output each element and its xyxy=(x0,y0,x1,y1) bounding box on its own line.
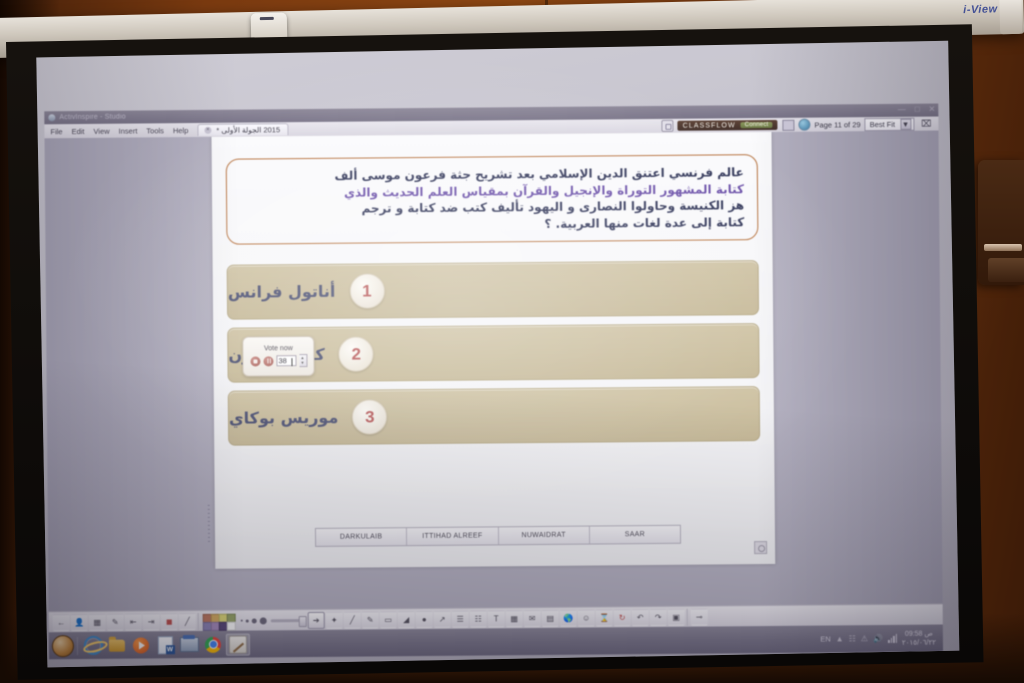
grid-icon[interactable]: ▦ xyxy=(506,610,523,627)
flipchart-tab[interactable]: 2015 الجولة الأولى * × xyxy=(197,123,288,136)
color-palette[interactable] xyxy=(200,613,237,628)
timer-icon[interactable]: ⌛ xyxy=(596,609,613,626)
chevron-down-icon[interactable]: ▼ xyxy=(900,118,911,129)
start-button[interactable] xyxy=(52,635,74,657)
globe-icon[interactable] xyxy=(798,119,810,131)
collapse-icon[interactable]: ⌧ xyxy=(918,118,934,129)
team-darkulaib[interactable]: DARKULAIB xyxy=(316,528,407,546)
pen-width-l[interactable] xyxy=(260,617,267,624)
answer-option-2[interactable]: 2 كلود سيمون Vote now 38 xyxy=(227,323,759,383)
zoom-value: Best Fit xyxy=(870,119,896,128)
volume-icon[interactable]: 🔊 xyxy=(873,634,883,643)
toolbar-group-extra[interactable]: ⊸ xyxy=(689,608,710,625)
vote-now-label: Vote now xyxy=(264,345,293,352)
window-title: ActivInspire - Studio xyxy=(59,114,126,122)
menu-view[interactable]: View xyxy=(93,126,109,135)
record-icon[interactable]: ◼ xyxy=(161,613,178,630)
menu-insert[interactable]: Insert xyxy=(119,126,138,135)
workspace-guide-dots xyxy=(208,505,210,545)
minimize-button[interactable]: — xyxy=(898,105,906,114)
menu-file[interactable]: File xyxy=(50,127,62,136)
filmstrip-icon[interactable]: ▤ xyxy=(542,609,559,626)
taskbar-clock[interactable]: 09:58 ص ٢٠١٥/٠٦/٢٢ xyxy=(902,629,936,647)
language-indicator[interactable]: EN xyxy=(820,634,831,643)
answer-text-1: أناتول فرانس xyxy=(228,282,336,302)
next-page-icon[interactable]: ⇥ xyxy=(143,613,160,630)
vote-controls[interactable]: 38 ▲ ▼ xyxy=(250,354,307,367)
pen-width-xs[interactable] xyxy=(241,620,243,622)
note-icon[interactable]: ✉ xyxy=(524,609,541,626)
spinner-down-icon[interactable]: ▼ xyxy=(300,361,304,365)
page-grid-icon[interactable] xyxy=(782,119,794,130)
spinner-stepper[interactable]: ▲ ▼ xyxy=(299,354,307,367)
magic-pen-icon[interactable]: ✦ xyxy=(326,611,343,628)
ac-lower-vent xyxy=(988,258,1024,282)
connector-icon[interactable]: ↗ xyxy=(434,610,451,627)
team-name-bar[interactable]: DARKULAIB ITTIHAD ALREEF NUWAIDRAT SAAR xyxy=(315,525,681,547)
classflow-logo-bar[interactable]: CLASSFLOW Connect xyxy=(678,120,778,131)
vote-now-widget[interactable]: Vote now 38 xyxy=(242,336,314,377)
eraser-small-icon[interactable]: ╱ xyxy=(179,613,196,630)
question-line-4: كتابة إلى عدة لغات منها العربية. ؟ xyxy=(240,214,744,235)
answer-options: 1 أناتول فرانس 2 كلود سيمون Vote now xyxy=(227,260,761,454)
toolbar-group-navigation[interactable]: ← 👤 ▦ ✎ ⇤ ⇥ ◼ ╱ xyxy=(51,612,199,630)
projector-screen-surface: ActivInspire - Studio — □ ✕ File Edit Vi… xyxy=(36,41,959,668)
stop-icon[interactable] xyxy=(250,356,260,366)
page-indicator: Page 11 of 29 xyxy=(814,120,860,129)
highlighter-icon[interactable]: ✎ xyxy=(362,611,379,628)
maximize-button[interactable]: □ xyxy=(915,105,920,114)
flipchart-tab-label: 2015 الجولة الأولى * xyxy=(216,125,280,135)
zoom-select[interactable]: Best Fit ▼ xyxy=(865,117,915,130)
ac-light-bar xyxy=(984,244,1022,251)
workspace-right-margin xyxy=(771,131,942,605)
pen-width-selector[interactable] xyxy=(238,617,270,624)
room-photo: i-View ActivInspire - Studio — □ ✕ xyxy=(0,0,1024,683)
pen-icon[interactable]: ╱ xyxy=(344,611,361,628)
globe-icon[interactable]: 🌎 xyxy=(560,609,577,626)
dashboard-icon[interactable] xyxy=(662,120,674,132)
undo-icon[interactable]: ↶ xyxy=(632,609,649,626)
shape-icon[interactable]: ● xyxy=(416,610,433,627)
toolbar-group-tools[interactable]: ➔ ✦ ╱ ✎ ▭ ◢ ● ↗ ☰ ☷ T ▦ ✉ ▤ 🌎 xyxy=(306,608,688,628)
projector-screen-frame: ActivInspire - Studio — □ ✕ File Edit Vi… xyxy=(6,24,984,680)
classflow-area[interactable]: CLASSFLOW Connect xyxy=(662,119,783,132)
redo-icon[interactable]: ↷ xyxy=(650,608,667,625)
menu-items[interactable]: File Edit View Insert Tools Help xyxy=(44,126,188,136)
screen-brand-label: i-View xyxy=(963,3,998,16)
flipchart-page[interactable]: عالم فرنسي اعتنق الدين الإسلامي بعد تشري… xyxy=(212,132,776,569)
app-logo-icon xyxy=(48,114,55,121)
air-conditioner-unit xyxy=(978,160,1024,285)
fill-bucket-icon[interactable]: ◢ xyxy=(398,611,415,628)
clock-time: 09:58 ص xyxy=(905,629,933,638)
swatch-8[interactable] xyxy=(227,621,236,630)
user-icon[interactable]: 👤 xyxy=(71,613,88,630)
menu-tools[interactable]: Tools xyxy=(146,126,164,135)
pen-width-slider[interactable] xyxy=(271,619,305,622)
ink-note-icon[interactable]: ☰ xyxy=(452,610,469,627)
vote-countdown-input[interactable]: 38 xyxy=(276,355,296,366)
taskbar-google-chrome[interactable] xyxy=(202,634,224,654)
network-icon[interactable]: ☷ xyxy=(849,634,856,643)
team-nuwaidrat[interactable]: NUWAIDRAT xyxy=(498,527,589,545)
prev-page-icon[interactable]: ⇤ xyxy=(125,613,142,630)
workspace-left-margin xyxy=(45,137,216,611)
pause-icon[interactable] xyxy=(263,356,273,366)
menu-spacer xyxy=(288,126,662,129)
undo-arrow-icon[interactable]: ← xyxy=(53,614,70,631)
page-edit-icon[interactable]: ✎ xyxy=(107,613,124,630)
taskbar-internet-explorer[interactable] xyxy=(82,635,104,655)
taskbar-divider xyxy=(77,637,78,655)
answer-text-3: موريس بوكاي xyxy=(229,408,339,428)
classflow-connect-button[interactable]: Connect xyxy=(741,122,773,128)
taskbar-microsoft-word[interactable] xyxy=(154,635,176,655)
screen-case-cap xyxy=(999,0,1022,34)
menu-edit[interactable]: Edit xyxy=(72,126,85,135)
page-reset-icon[interactable]: ▣ xyxy=(668,608,685,625)
activinspire-window: ActivInspire - Studio — □ ✕ File Edit Vi… xyxy=(44,104,943,652)
spinner-up-icon[interactable]: ▲ xyxy=(300,356,304,360)
select-pointer-icon[interactable]: ➔ xyxy=(308,611,325,628)
taskbar-remote-desktop[interactable] xyxy=(178,634,200,654)
team-saar[interactable]: SAAR xyxy=(590,526,680,544)
signal-icon[interactable] xyxy=(888,634,897,643)
window-controls[interactable]: — □ ✕ xyxy=(898,105,936,114)
team-ittihad-alreef[interactable]: ITTIHAD ALREEF xyxy=(407,527,498,545)
taskbar-file-explorer[interactable] xyxy=(106,635,128,655)
taskbar-activinspire[interactable] xyxy=(226,633,250,655)
answer-number-1: 1 xyxy=(349,273,384,308)
close-icon[interactable]: × xyxy=(204,127,211,134)
close-button[interactable]: ✕ xyxy=(929,105,936,114)
reset-icon[interactable]: ↻ xyxy=(614,609,631,626)
protractor-icon[interactable]: ⊸ xyxy=(691,608,708,625)
system-tray[interactable]: EN ▲ ☷ ⚠ 🔊 09:58 ص ٢٠١٥/٠٦/٢٢ xyxy=(820,629,940,648)
classflow-label: CLASSFLOW xyxy=(683,122,736,129)
text-tool-icon[interactable]: T xyxy=(488,610,505,627)
chevron-up-icon[interactable]: ▲ xyxy=(836,634,844,643)
warning-icon[interactable]: ⚠ xyxy=(861,634,868,643)
vote-countdown-value: 38 xyxy=(278,356,286,365)
taskbar-media-player[interactable] xyxy=(130,635,152,655)
eraser-icon[interactable]: ▭ xyxy=(380,611,397,628)
text-caret xyxy=(291,358,292,366)
clock-date: ٢٠١٥/٠٦/٢٢ xyxy=(902,638,936,647)
answer-number-3: 3 xyxy=(352,399,387,434)
page-widget-icon[interactable] xyxy=(754,541,767,554)
page-thumb-icon[interactable]: ▦ xyxy=(89,613,106,630)
answer-number-2: 2 xyxy=(339,336,374,371)
pen-width-m[interactable] xyxy=(252,618,257,623)
question-box: عالم فرنسي اعتنق الدين الإسلامي بعد تشري… xyxy=(226,154,759,245)
pen-width-s[interactable] xyxy=(246,619,249,622)
answer-option-3[interactable]: 3 موريس بوكاي xyxy=(228,386,760,446)
page-navigation-area[interactable]: Page 11 of 29 Best Fit ▼ ⌧ xyxy=(782,117,938,131)
menu-help[interactable]: Help xyxy=(173,126,189,135)
flipchart-workspace: عالم فرنسي اعتنق الدين الإسلامي بعد تشري… xyxy=(45,131,943,612)
answer-option-1[interactable]: 1 أناتول فرانس xyxy=(227,260,759,320)
camera-icon[interactable]: ☺ xyxy=(578,609,595,626)
clipart-icon[interactable]: ☷ xyxy=(470,610,487,627)
ac-grill-icon xyxy=(984,168,1024,240)
flipchart-tabstrip[interactable]: 2015 الجولة الأولى * × xyxy=(197,123,288,136)
